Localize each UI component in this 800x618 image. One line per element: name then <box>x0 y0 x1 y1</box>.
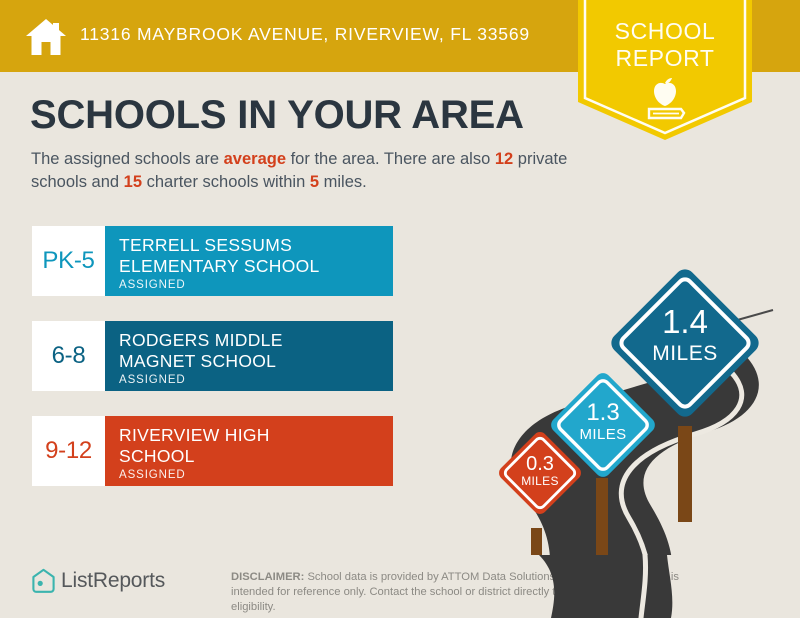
distance-sign-unit: MILES <box>521 474 559 488</box>
apple-on-book-icon <box>639 76 691 122</box>
subtitle-radius: 5 <box>310 173 319 191</box>
badge-line-1: SCHOOL <box>578 18 752 45</box>
page-title: SCHOOLS IN YOUR AREA <box>30 93 524 138</box>
grade-range-label: 6-8 <box>52 342 86 370</box>
subtitle-charter-count: 15 <box>124 173 142 191</box>
sign-post <box>678 426 692 522</box>
badge-line-2: REPORT <box>578 45 752 72</box>
subtitle-part-1: The assigned schools are <box>31 150 224 168</box>
disclaimer-text: DISCLAIMER: School data is provided by A… <box>231 570 693 615</box>
school-row[interactable]: PK-5 TERRELL SESSUMS ELEMENTARY SCHOOL A… <box>32 226 393 296</box>
disclaimer-label: DISCLAIMER: <box>231 571 304 583</box>
subtitle-part-2: for the area. There are also <box>286 150 495 168</box>
subtitle-part-4: charter schools within <box>142 173 310 191</box>
school-detail-bar: RODGERS MIDDLE MAGNET SCHOOL ASSIGNED <box>105 321 393 391</box>
grade-range-box: PK-5 <box>32 226 105 296</box>
school-row[interactable]: 6-8 RODGERS MIDDLE MAGNET SCHOOL ASSIGNE… <box>32 321 393 391</box>
subtitle-part-5: miles. <box>319 173 367 191</box>
home-icon <box>24 16 68 58</box>
school-status-label: ASSIGNED <box>119 374 393 386</box>
school-detail-bar: RIVERVIEW HIGH SCHOOL ASSIGNED <box>105 416 393 486</box>
distance-sign-unit: MILES <box>579 426 626 443</box>
grade-range-box: 9-12 <box>32 416 105 486</box>
sign-post <box>596 478 608 558</box>
badge-title: SCHOOL REPORT <box>578 18 752 72</box>
distance-sign-value: 1.4 <box>662 303 708 340</box>
school-report-infographic: 11316 MAYBROOK AVENUE, RIVERVIEW, FL 335… <box>0 0 800 618</box>
school-name: RIVERVIEW HIGH SCHOOL <box>119 425 393 467</box>
header-address: 11316 MAYBROOK AVENUE, RIVERVIEW, FL 335… <box>80 24 530 45</box>
listreports-logo-text: ListReports <box>61 569 165 593</box>
school-name: RODGERS MIDDLE MAGNET SCHOOL <box>119 330 393 372</box>
school-name: TERRELL SESSUMS ELEMENTARY SCHOOL <box>119 235 393 277</box>
grade-range-label: 9-12 <box>45 437 92 465</box>
grade-range-label: PK-5 <box>42 247 94 275</box>
school-detail-bar: TERRELL SESSUMS ELEMENTARY SCHOOL ASSIGN… <box>105 226 393 296</box>
grade-range-box: 6-8 <box>32 321 105 391</box>
listreports-house-tag-icon <box>31 568 56 594</box>
school-row[interactable]: 9-12 RIVERVIEW HIGH SCHOOL ASSIGNED <box>32 416 393 486</box>
distance-sign-value: 0.3 <box>526 453 554 475</box>
subtitle: The assigned schools are average for the… <box>31 148 576 194</box>
school-status-label: ASSIGNED <box>119 279 393 291</box>
subtitle-private-count: 12 <box>495 150 513 168</box>
school-status-label: ASSIGNED <box>119 469 393 481</box>
distance-sign-value: 1.3 <box>586 399 619 426</box>
subtitle-rating: average <box>224 150 286 168</box>
distance-sign-unit: MILES <box>652 342 718 365</box>
